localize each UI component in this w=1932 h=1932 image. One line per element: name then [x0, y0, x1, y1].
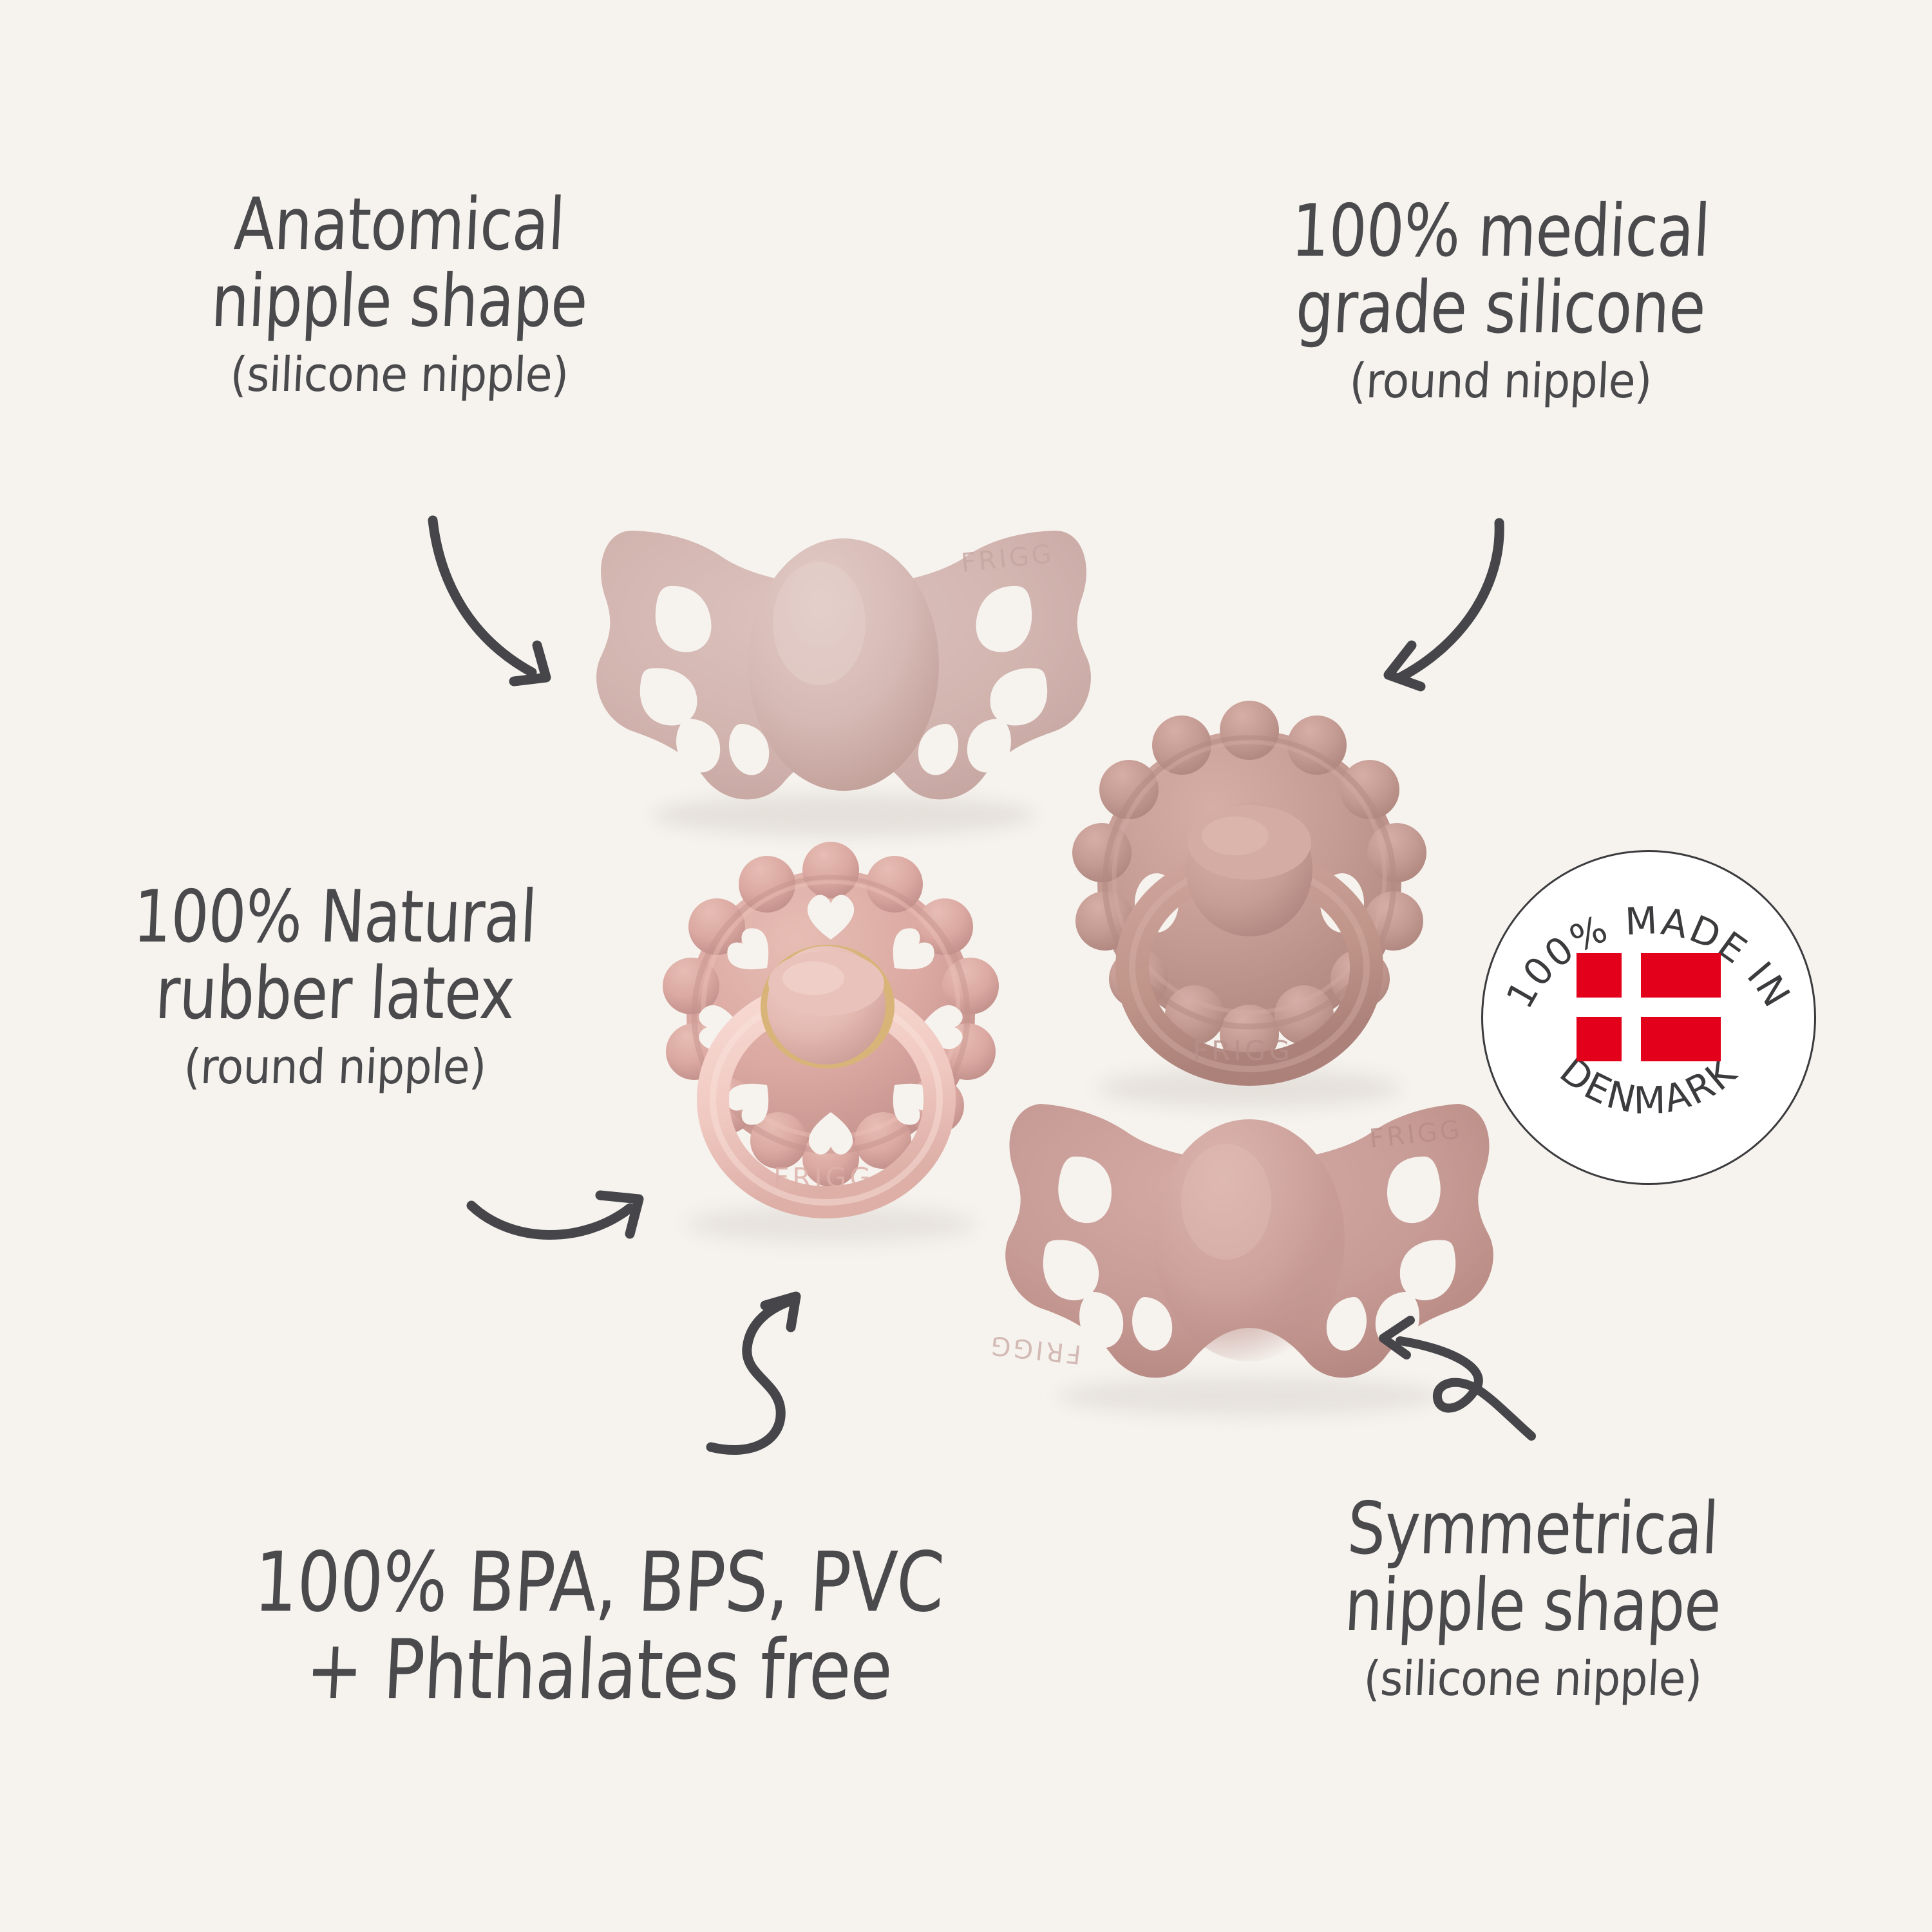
product-daisy-silicone-pacifier: FRIGG: [1030, 676, 1468, 1127]
callout-line-2: + Phthalates free: [117, 1627, 1081, 1714]
brand-emboss: FRIGG: [773, 1162, 874, 1193]
callout-natural-rubber-latex: 100% Natural rubber latex (round nipple): [26, 879, 644, 1093]
callout-bpa-free: 100% BPA, BPS, PVC + Phthalates free: [77, 1539, 1121, 1714]
callout-subtitle: (silicone nipple): [120, 350, 679, 400]
brand-emboss: FRIGG: [1193, 1035, 1293, 1066]
round-nipple-knob: [767, 946, 885, 1065]
arrow-to-medical-pacifier: [1359, 496, 1578, 708]
made-in-denmark-badge: 100% MADE IN DENMARK: [1481, 850, 1816, 1185]
danish-flag-icon: [1577, 953, 1721, 1061]
callout-subtitle: (round nipple): [1191, 356, 1810, 406]
callout-subtitle: (silicone nipple): [1235, 1654, 1830, 1704]
arrow-to-anatomical-pacifier: [399, 502, 605, 708]
callout-subtitle: (round nipple): [50, 1042, 621, 1092]
nipple-highlight: [1181, 1144, 1271, 1260]
callout-line-2: rubber latex: [49, 956, 621, 1032]
arrow-to-symmetrical-pacifier: [1346, 1307, 1616, 1481]
callout-line-1: Symmetrical: [1235, 1491, 1831, 1567]
callout-anatomical: Anatomical nipple shape (silicone nipple…: [97, 187, 702, 401]
callout-line-1: 100% BPA, BPS, PVC: [117, 1539, 1081, 1627]
callout-symmetrical: Symmetrical nipple shape (silicone nippl…: [1211, 1491, 1855, 1705]
round-nipple-knob: [1186, 802, 1312, 936]
brand-emboss-secondary: FRIGG: [987, 1330, 1083, 1369]
callout-line-2: nipple shape: [119, 263, 680, 340]
callout-medical-grade-silicone: 100% medical grade silicone (round nippl…: [1166, 193, 1835, 407]
flag-cross-horizontal: [1577, 998, 1721, 1017]
arrow-to-bpa-pacifier: [702, 1285, 914, 1497]
callout-line-1: 100% Natural: [49, 879, 621, 956]
callout-line-2: grade silicone: [1191, 270, 1811, 346]
callout-line-2: nipple shape: [1235, 1567, 1831, 1644]
nipple-highlight: [773, 562, 866, 685]
arrow-to-latex-pacifier: [457, 1185, 676, 1301]
callout-line-1: 100% medical: [1191, 193, 1811, 270]
callout-line-1: Anatomical: [119, 187, 680, 263]
infographic-canvas: FRIGG: [0, 0, 1932, 1932]
